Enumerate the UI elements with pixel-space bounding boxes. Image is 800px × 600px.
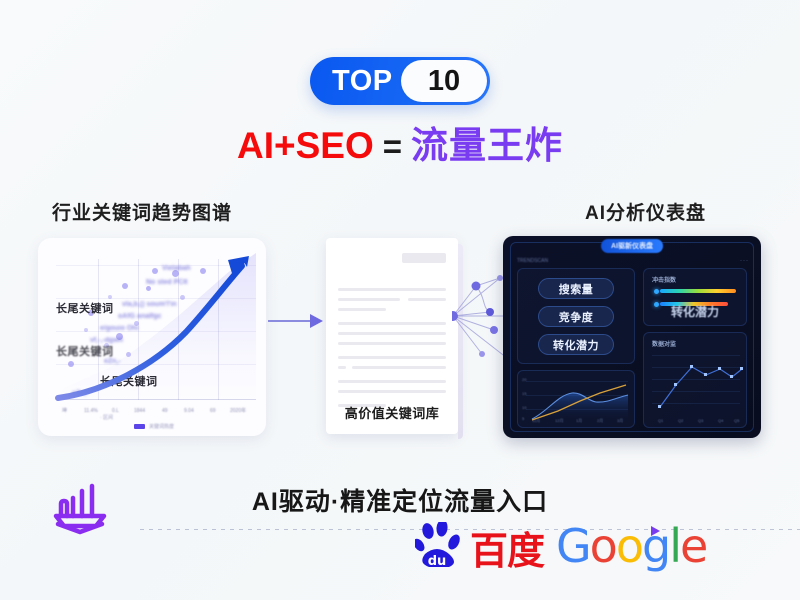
axis-tick: 12月 bbox=[555, 418, 563, 424]
doc-caption: 高价值关键词库 bbox=[326, 403, 458, 422]
doc-bullet bbox=[338, 366, 346, 369]
axis-tick: Q2 bbox=[678, 418, 683, 423]
axis-tick: Q5 bbox=[734, 418, 739, 423]
gauge-overlay-label: 转化潜力 bbox=[644, 303, 746, 320]
right-section-caption: AI分析仪表盘 bbox=[585, 198, 706, 225]
traffic-area-panel: 20 15 10 5 11月 12月 1月 2月 bbox=[517, 370, 635, 428]
axis-tick: 2月 bbox=[597, 418, 603, 424]
keyword-trend-card: Vielabah No sted PCIt vla,b,() soum'l'in… bbox=[38, 238, 266, 436]
doc-text-line bbox=[338, 342, 446, 345]
gauge-marker bbox=[654, 289, 659, 294]
axis-tick: 11.4% bbox=[84, 408, 98, 414]
data-comparison-panel: 数据对监 Q1 Q2 Q3 Q4 bbox=[643, 332, 747, 428]
doc-text-line bbox=[338, 308, 386, 311]
doc-text-line bbox=[338, 332, 446, 335]
doc-text-line bbox=[338, 380, 446, 383]
top-badge-number-pill: 10 bbox=[401, 60, 487, 102]
axis-tick: 69 bbox=[210, 408, 216, 414]
flow-arrow-icon bbox=[268, 312, 324, 330]
keyword-library-document: 高价值关键词库 bbox=[326, 238, 458, 434]
axis-tick: 11月 bbox=[532, 418, 540, 424]
metric-pill-competition[interactable]: 竞争度 bbox=[538, 306, 614, 327]
axis-tick: 坤 bbox=[62, 407, 67, 414]
top-rank-badge: TOP 10 bbox=[310, 57, 490, 105]
axis-tick: Q1 bbox=[658, 418, 663, 423]
google-letter: G bbox=[556, 519, 590, 573]
chart-legend: 关键词热度 bbox=[134, 423, 174, 430]
google-letter: l bbox=[669, 519, 680, 573]
legend-swatch bbox=[134, 424, 145, 429]
ai-dashboard-card: AI驱新仪表盘 TRENDSCAN ··· 搜索量 竞争度 转化潜力 20 15… bbox=[503, 236, 761, 438]
axis-tick: 1月 bbox=[576, 418, 582, 424]
doc-text-line bbox=[338, 298, 400, 301]
axis-tick: Q3 bbox=[698, 418, 703, 423]
trend-chart: Vielabah No sted PCIt vla,b,() soum'l'in… bbox=[56, 250, 256, 400]
baidu-chinese-text: 百度 bbox=[470, 534, 544, 570]
partner-logos: du 百度 Google bbox=[415, 522, 706, 570]
dashboard-menu-icon[interactable]: ··· bbox=[740, 258, 749, 264]
footer-tagline: AI驱动·精准定位流量入口 bbox=[0, 482, 800, 518]
slide-canvas: TOP 10 AI+SEO=流量王炸 行业关键词趋势图谱 AI分析仪表盘 bbox=[0, 0, 800, 600]
google-letter: o bbox=[616, 519, 642, 573]
axis-tick: 9.04 bbox=[184, 408, 194, 414]
axis-tick: 1844 bbox=[134, 408, 145, 414]
google-logo: Google bbox=[556, 523, 706, 569]
impact-gauge-panel: 冲击指数 转化潜力 bbox=[643, 268, 747, 326]
doc-text-line bbox=[338, 356, 446, 359]
play-arrow-icon bbox=[651, 526, 660, 536]
dashboard-brand: TRENDSCAN bbox=[517, 258, 548, 264]
trend-arrow bbox=[56, 250, 256, 400]
metric-pill-conversion[interactable]: 转化潜力 bbox=[538, 334, 614, 355]
page-title: AI+SEO=流量王炸 bbox=[0, 125, 800, 168]
google-letter: e bbox=[680, 519, 706, 573]
doc-text-line bbox=[352, 366, 446, 369]
title-ai-seo: AI+SEO bbox=[237, 125, 374, 166]
left-section-caption: 行业关键词趋势图谱 bbox=[52, 198, 232, 225]
title-equals: = bbox=[383, 128, 402, 165]
axis-tick: 49 bbox=[162, 408, 168, 414]
legend-label: 关键词热度 bbox=[149, 423, 174, 430]
x-axis-label: · 区间 bbox=[100, 414, 113, 421]
baidu-paw-icon: du bbox=[415, 522, 467, 570]
doc-header-block bbox=[402, 253, 446, 263]
doc-text-line bbox=[338, 322, 446, 325]
title-chinese: 流量王炸 bbox=[411, 125, 563, 166]
google-letter: o bbox=[590, 519, 616, 573]
doc-text-line bbox=[408, 298, 446, 301]
top-badge-word: TOP bbox=[332, 67, 393, 96]
axis-tick: 3月 bbox=[617, 418, 623, 424]
baidu-du-text: du bbox=[428, 554, 447, 569]
top-badge-number: 10 bbox=[428, 67, 460, 96]
panel-title: 冲击指数 bbox=[652, 275, 676, 284]
axis-tick: Q4 bbox=[718, 418, 723, 423]
doc-text-line bbox=[338, 288, 446, 291]
metrics-panel: 搜索量 竞争度 转化潜力 bbox=[517, 268, 635, 364]
axis-tick: 2020年 bbox=[230, 407, 246, 414]
dashboard-title-badge: AI驱新仪表盘 bbox=[601, 239, 663, 253]
metric-pill-search-volume[interactable]: 搜索量 bbox=[538, 278, 614, 299]
baidu-logo: du 百度 bbox=[415, 522, 544, 570]
line-chart bbox=[644, 333, 748, 429]
gradient-bar bbox=[660, 289, 736, 293]
doc-text-line bbox=[338, 390, 446, 393]
